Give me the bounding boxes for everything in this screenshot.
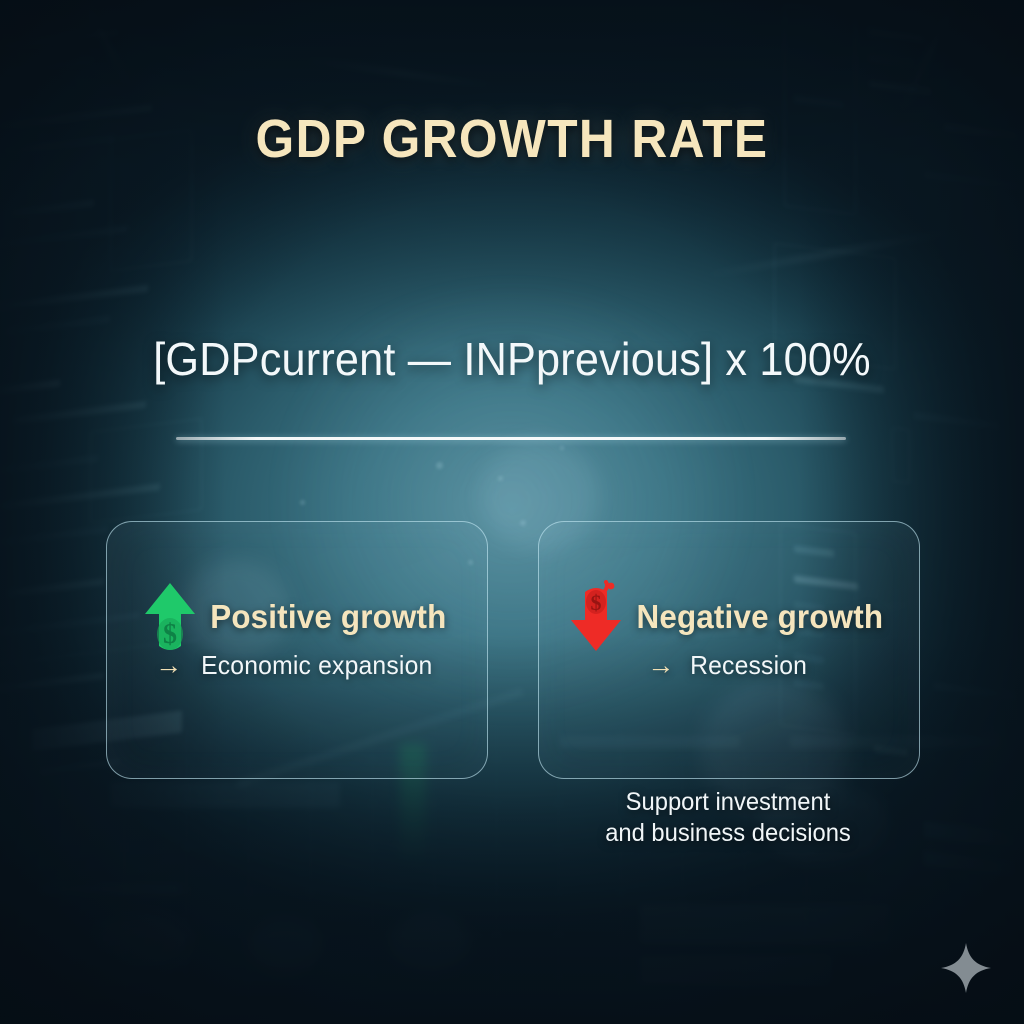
card-positive-sub-row: → Economic expansion: [107, 650, 487, 681]
card-positive-heading: Positive growth: [210, 598, 446, 636]
card-positive-sublabel: Economic expansion: [201, 650, 432, 681]
right-arrow-icon: →: [155, 652, 182, 679]
arrow-up-dollar-icon: $: [142, 580, 198, 654]
card-positive-growth[interactable]: $ Positive growth → Economic expansion: [106, 521, 488, 779]
formula-expression: [GDPcurrent — INPprevious] x 100%: [31, 332, 994, 386]
card-negative-heading-row: $ Negative growth: [539, 580, 919, 654]
arrow-down-dollar-icon: $: [568, 580, 624, 654]
footer-line-2: and business decisions: [548, 818, 909, 849]
footer-line-1: Support investment: [548, 787, 909, 818]
divider-rule: [176, 437, 846, 440]
svg-text:$: $: [591, 590, 602, 615]
sparkle-star-icon: [940, 942, 992, 994]
card-positive-heading-row: $ Positive growth: [107, 580, 487, 654]
card-negative-heading: Negative growth: [637, 598, 884, 636]
card-negative-sub-row: → Recession: [539, 650, 919, 681]
page-title: GDP GROWTH RATE: [41, 108, 983, 170]
footer-caption: Support investment and business decision…: [548, 787, 909, 849]
right-arrow-icon: →: [647, 652, 674, 679]
svg-text:$: $: [163, 619, 177, 650]
card-negative-growth[interactable]: $ Negative growth → Recession: [538, 521, 920, 779]
card-negative-sublabel: Recession: [690, 650, 807, 681]
infographic-canvas: GDP GROWTH RATE [GDPcurrent — INPpreviou…: [0, 0, 1024, 1024]
